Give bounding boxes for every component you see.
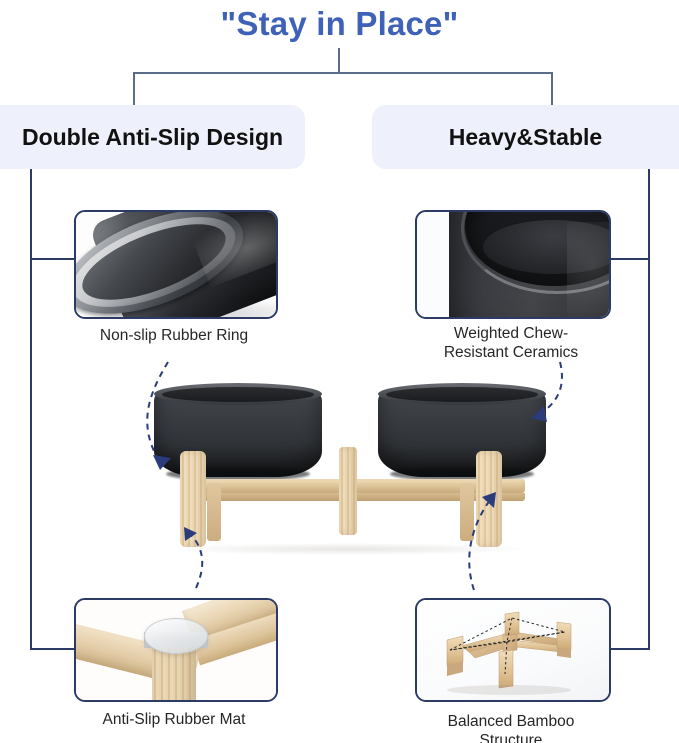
category-label-double-anti-slip: Double Anti-Slip Design xyxy=(22,124,283,151)
connector-left-to-bottom-photo xyxy=(30,648,76,650)
bamboo-leg-front-left xyxy=(180,451,206,547)
bowl-left-rim-inner xyxy=(162,387,314,402)
connector-drop-left xyxy=(133,72,135,106)
connector-left-to-top-photo xyxy=(30,258,76,260)
bowl-right xyxy=(378,391,546,477)
photo-frame-balanced-bamboo-structure[interactable] xyxy=(415,598,611,702)
connector-horizontal-bar xyxy=(133,72,553,74)
connector-left-spine xyxy=(30,169,32,650)
bamboo-leg-rear-left xyxy=(207,483,221,541)
bamboo-stand-balance-photo xyxy=(417,600,609,700)
bowl-interior-photo xyxy=(417,212,609,317)
category-label-heavy-stable: Heavy&Stable xyxy=(449,124,602,151)
connector-drop-right xyxy=(551,72,553,106)
caption-non-slip-rubber-ring: Non-slip Rubber Ring xyxy=(54,326,294,345)
caption-line-1: Anti-Slip Rubber Mat xyxy=(54,710,294,729)
bamboo-center-post xyxy=(339,447,357,535)
caption-weighted-chew-resistant-ceramics: Weighted Chew- Resistant Ceramics xyxy=(411,324,611,362)
bamboo-leg-front-right xyxy=(476,451,502,547)
bowl-drop-shadow xyxy=(86,297,278,319)
caption-line-1: Balanced Bamboo xyxy=(411,712,611,731)
category-box-double-anti-slip[interactable]: Double Anti-Slip Design xyxy=(0,105,305,169)
center-product-photo xyxy=(150,383,550,553)
product-ground-shadow xyxy=(168,543,528,555)
bamboo-leg-rubber-mat-photo xyxy=(76,600,276,700)
caption-anti-slip-rubber-mat: Anti-Slip Rubber Mat xyxy=(54,710,294,729)
bamboo-leg-rear-right xyxy=(460,483,474,541)
bowl-gloss-highlight xyxy=(567,222,611,319)
category-box-heavy-stable[interactable]: Heavy&Stable xyxy=(372,105,679,169)
caption-line-2: Resistant Ceramics xyxy=(411,343,611,362)
connector-right-spine xyxy=(648,169,650,650)
bowl-right-rim-inner xyxy=(386,387,538,402)
connector-title-stem xyxy=(338,48,340,74)
photo-frame-non-slip-rubber-ring[interactable] xyxy=(74,210,278,319)
caption-balanced-bamboo-structure: Balanced Bamboo Structure xyxy=(411,712,611,743)
tipped-bowl-rubber-ring-photo xyxy=(76,212,276,317)
caption-line-1: Weighted Chew- xyxy=(411,324,611,343)
infographic-page: "Stay in Place" Double Anti-Slip Design … xyxy=(0,0,679,743)
page-title: "Stay in Place" xyxy=(0,2,679,46)
rubber-mat-top-shape xyxy=(144,618,208,654)
caption-line-2: Structure xyxy=(411,731,611,743)
bamboo-stand-diagram xyxy=(417,600,605,696)
photo-frame-anti-slip-rubber-mat[interactable] xyxy=(74,598,278,702)
caption-line-1: Non-slip Rubber Ring xyxy=(54,326,294,345)
photo-frame-weighted-chew-resistant-ceramics[interactable] xyxy=(415,210,611,319)
